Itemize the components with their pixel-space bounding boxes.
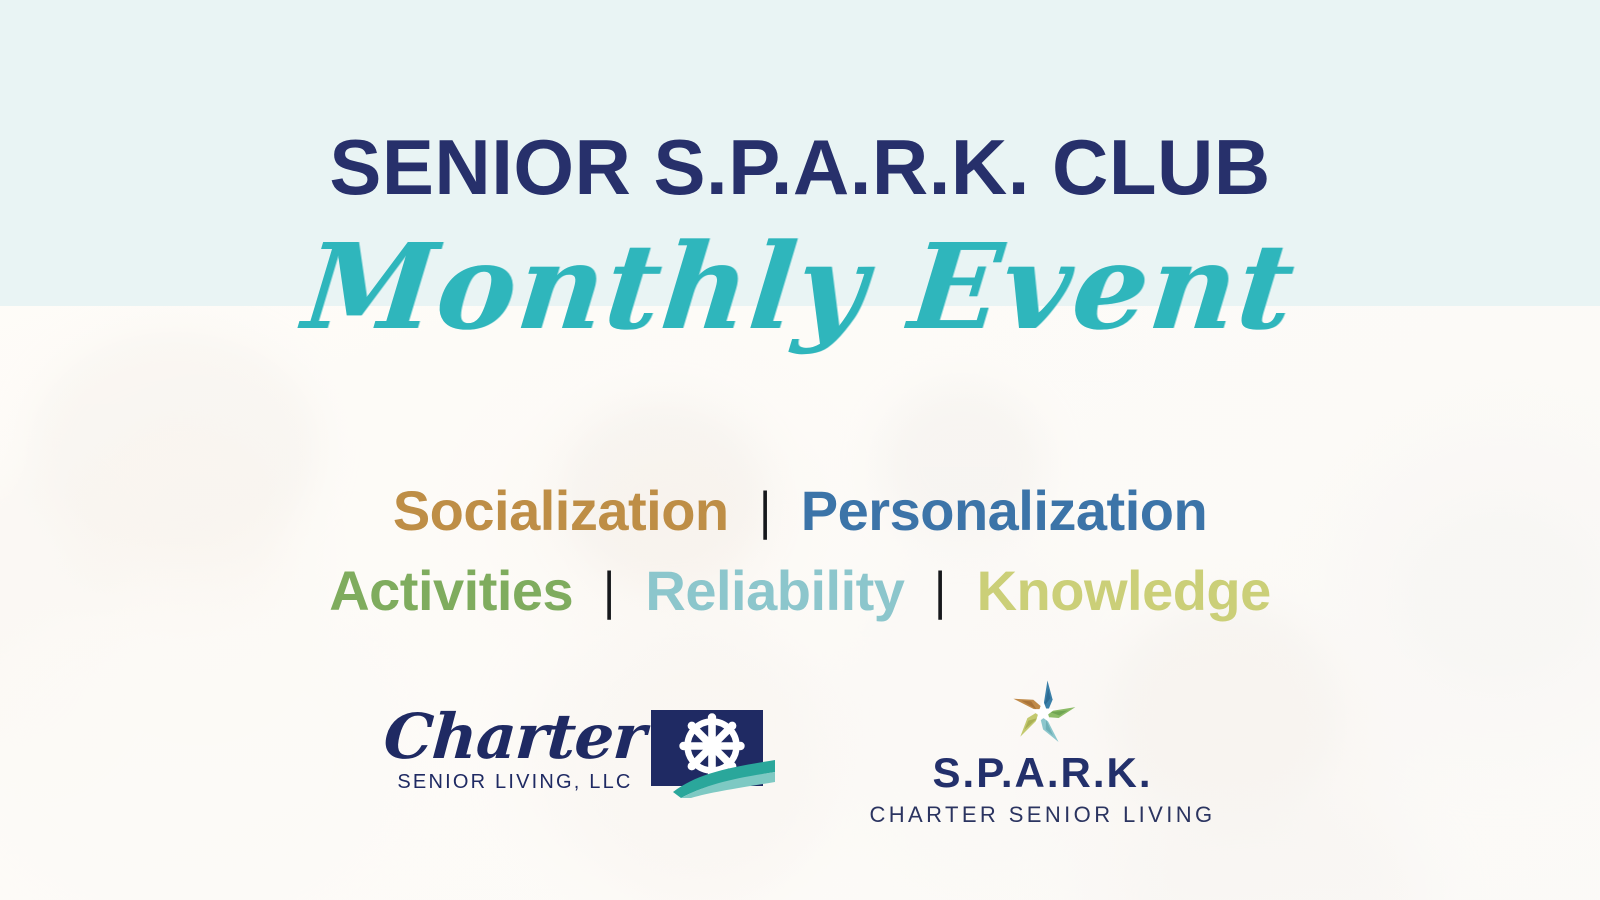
pillar-activities: Activities bbox=[329, 552, 573, 630]
pillar-knowledge: Knowledge bbox=[977, 552, 1271, 630]
charter-subtitle-text: SENIOR LIVING, LLC bbox=[397, 771, 632, 794]
charter-script-text: Charter bbox=[383, 709, 648, 765]
spark-wordmark: S.P.A.R.K. bbox=[933, 752, 1153, 794]
spark-logo: S.P.A.R.K. CHARTER SENIOR LIVING bbox=[869, 676, 1215, 828]
charter-senior-living-logo: Charter SENIOR LIVING, LLC bbox=[384, 706, 775, 798]
pillar-reliability: Reliability bbox=[645, 552, 904, 630]
pillar-separator: | bbox=[598, 552, 621, 630]
pinwheel-star-icon bbox=[1005, 676, 1081, 750]
pillar-socialization: Socialization bbox=[393, 472, 729, 550]
pillar-separator: | bbox=[929, 552, 952, 630]
spark-pillars: Socialization | Personalization Activiti… bbox=[0, 472, 1600, 632]
script-subtitle: Monthly Event bbox=[0, 225, 1600, 349]
ships-wheel-icon bbox=[651, 706, 775, 798]
poster-canvas: SENIOR S.P.A.R.K. CLUB Monthly Event Soc… bbox=[0, 0, 1600, 900]
spark-subtitle: CHARTER SENIOR LIVING bbox=[869, 802, 1215, 828]
logo-row: Charter SENIOR LIVING, LLC bbox=[0, 672, 1600, 832]
pillar-personalization: Personalization bbox=[801, 472, 1207, 550]
pillar-row-1: Socialization | Personalization bbox=[0, 472, 1600, 552]
pillar-row-2: Activities | Reliability | Knowledge bbox=[0, 552, 1600, 632]
pillar-separator: | bbox=[753, 472, 776, 550]
charter-wordmark: Charter SENIOR LIVING, LLC bbox=[384, 709, 645, 798]
page-title: SENIOR S.P.A.R.K. CLUB bbox=[0, 128, 1600, 206]
